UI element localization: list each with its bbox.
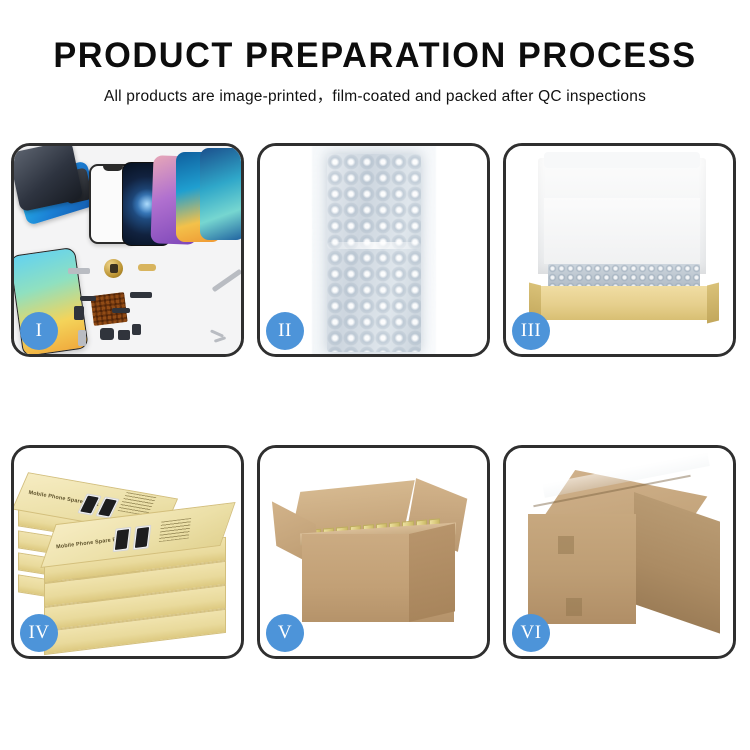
spare-part-sim-tray bbox=[78, 330, 86, 346]
spare-part-camera bbox=[100, 328, 114, 340]
vibration-motor-part bbox=[104, 259, 123, 278]
bubble-wrap-sheet bbox=[327, 154, 421, 352]
spare-part-bracket bbox=[80, 296, 96, 301]
retail-box-spec-text-front bbox=[159, 518, 191, 542]
spare-part-clip bbox=[74, 306, 84, 320]
step-badge-3: III bbox=[512, 312, 550, 350]
carton-front-face bbox=[528, 514, 636, 624]
carton-flap-tab-top bbox=[558, 536, 574, 554]
retail-box-phone-image-front-1 bbox=[113, 527, 132, 552]
step-card-5[interactable]: V bbox=[257, 445, 490, 659]
spare-part-flex-cable bbox=[130, 292, 152, 298]
step-card-4[interactable]: Mobile Phone Spare Parts Mobile Phone Sp… bbox=[11, 445, 244, 659]
step-badge-4: IV bbox=[20, 614, 58, 652]
step-card-6[interactable]: VI bbox=[503, 445, 736, 659]
inner-box-base bbox=[534, 286, 714, 320]
page-header: PRODUCT PREPARATION PROCESS All products… bbox=[0, 0, 750, 108]
screws-group-2 bbox=[214, 336, 226, 343]
retail-box-phone-image-front-2 bbox=[133, 525, 152, 550]
step-badge-1: I bbox=[20, 312, 58, 350]
foam-insert bbox=[544, 198, 700, 264]
step-badge-5: V bbox=[266, 614, 304, 652]
phone-screen-cyan bbox=[200, 148, 241, 240]
step-badge-2: II bbox=[266, 312, 304, 350]
tweezers-tool bbox=[212, 269, 241, 293]
step-card-3[interactable]: III bbox=[503, 143, 736, 357]
carton-body-open bbox=[302, 534, 454, 622]
spare-part-shield bbox=[112, 308, 130, 313]
spare-part-speaker bbox=[118, 330, 130, 340]
step-badge-6: VI bbox=[512, 614, 550, 652]
carton-side-face bbox=[634, 492, 720, 634]
process-steps-grid: I II III bbox=[11, 143, 739, 659]
spare-part-flex-gold bbox=[138, 264, 156, 271]
retail-box-stack: Mobile Phone Spare Parts Mobile Phone Sp… bbox=[18, 462, 241, 642]
carton-flap-tab-bottom bbox=[566, 598, 582, 616]
page-subtitle: All products are image-printed，film-coat… bbox=[0, 86, 750, 108]
step-card-2[interactable]: II bbox=[257, 143, 490, 357]
spare-part-button bbox=[132, 324, 141, 335]
step-card-1[interactable]: I bbox=[11, 143, 244, 357]
bubble-wrap-seam bbox=[327, 242, 421, 249]
spare-part-strip bbox=[68, 268, 90, 274]
page-title: PRODUCT PREPARATION PROCESS bbox=[8, 34, 743, 78]
